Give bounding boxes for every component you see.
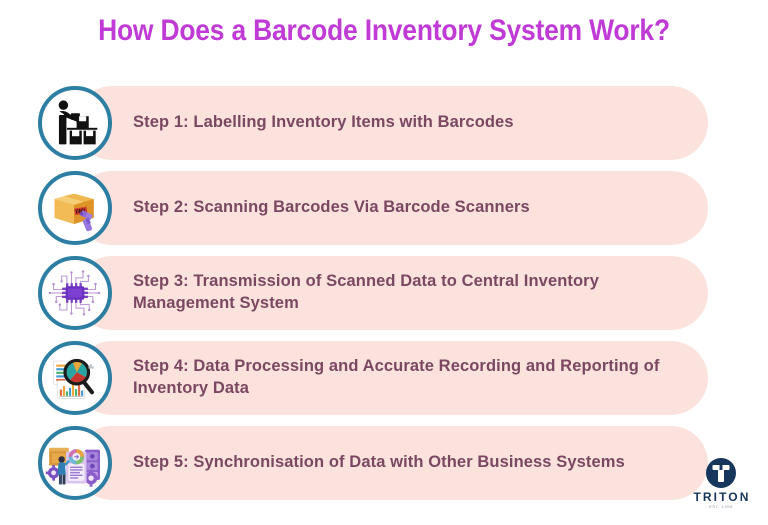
step-label: Step 4: Data Processing and Accurate Rec… xyxy=(133,356,690,400)
step-label: Step 5: Synchronisation of Data with Oth… xyxy=(133,452,625,474)
triton-wordmark: TRITON xyxy=(690,491,752,503)
step-bar: Step 3: Transmission of Scanned Data to … xyxy=(75,256,708,330)
triton-logo: TRITON EST. 1996 xyxy=(690,458,752,509)
document-sync-workflow-icon xyxy=(42,430,108,496)
step-icon-badge xyxy=(38,171,112,245)
step-label: Step 1: Labelling Inventory Items with B… xyxy=(133,112,514,134)
step-row: Step 1: Labelling Inventory Items with B… xyxy=(0,86,768,160)
step-row: Step 3: Transmission of Scanned Data to … xyxy=(0,256,768,330)
steps-list: Step 1: Labelling Inventory Items with B… xyxy=(0,86,768,511)
step-bar: Step 4: Data Processing and Accurate Rec… xyxy=(75,341,708,415)
microchip-circuit-icon xyxy=(42,260,108,326)
worker-labelling-boxes-icon xyxy=(42,90,108,156)
step-label: Step 2: Scanning Barcodes Via Barcode Sc… xyxy=(133,197,530,219)
step-bar: Step 2: Scanning Barcodes Via Barcode Sc… xyxy=(75,171,708,245)
triton-tagline: EST. 1996 xyxy=(690,505,752,509)
step-icon-badge xyxy=(38,86,112,160)
step-icon-badge xyxy=(38,426,112,500)
step-bar: Step 1: Labelling Inventory Items with B… xyxy=(75,86,708,160)
step-bar: Step 5: Synchronisation of Data with Oth… xyxy=(75,426,708,500)
step-label: Step 3: Transmission of Scanned Data to … xyxy=(133,271,690,315)
step-icon-badge xyxy=(38,256,112,330)
step-row: Step 2: Scanning Barcodes Via Barcode Sc… xyxy=(0,171,768,245)
step-icon-badge xyxy=(38,341,112,415)
triton-logo-mark xyxy=(706,458,736,488)
data-analysis-magnifier-charts-icon xyxy=(42,345,108,411)
page-title: How Does a Barcode Inventory System Work… xyxy=(46,14,722,48)
box-with-barcode-scanner-icon xyxy=(42,175,108,241)
step-row: Step 5: Synchronisation of Data with Oth… xyxy=(0,426,768,500)
step-row: Step 4: Data Processing and Accurate Rec… xyxy=(0,341,768,415)
